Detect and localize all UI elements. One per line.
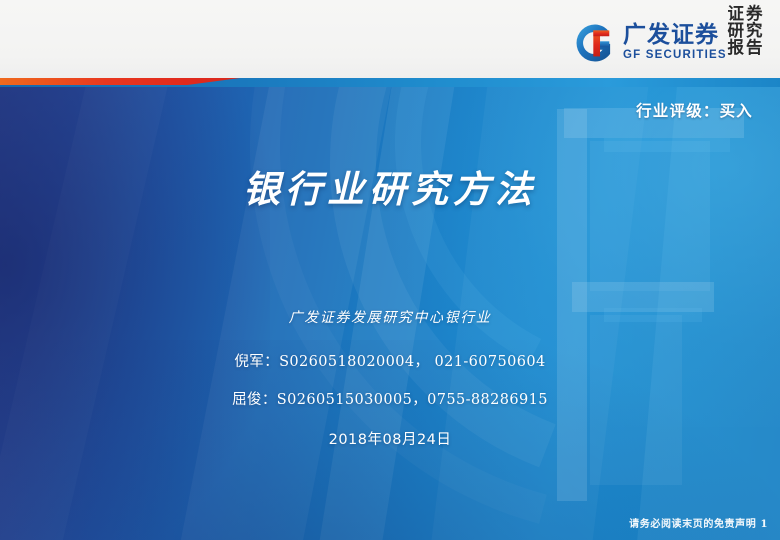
disclaimer-text: 请务必阅读末页的免责声明 xyxy=(629,519,756,530)
page-number: 1 xyxy=(760,519,768,530)
analyst-line: 倪军：S0260518020004， 021-60750604 xyxy=(0,350,780,371)
report-label-line-3: 报告 xyxy=(726,40,765,57)
analyst-line: 屈俊：S0260515030005，0755-88286915 xyxy=(0,388,780,409)
organization-name: 广发证券发展研究中心银行业 xyxy=(0,307,780,327)
cover-panel: 行业评级：买入 银行业研究方法 广发证券发展研究中心银行业 倪军：S026051… xyxy=(0,87,780,540)
slide-header: 广发证券 GF SECURITIES 证券 研究 报告 xyxy=(0,0,780,78)
industry-rating: 行业评级：买入 xyxy=(636,99,753,121)
gf-securities-logo-icon xyxy=(574,22,616,64)
report-cover-slide: 广发证券 GF SECURITIES 证券 研究 报告 xyxy=(0,0,780,540)
brand-name-en: GF SECURITIES xyxy=(623,50,727,62)
brand-wordmark: 广发证券 GF SECURITIES xyxy=(623,24,727,62)
report-type-label: 证券 研究 报告 xyxy=(722,6,768,56)
page-title: 银行业研究方法 xyxy=(0,159,780,213)
publication-date: 2018年08月24日 xyxy=(0,428,780,449)
brand-name-cn: 广发证券 xyxy=(623,24,727,47)
disclaimer-footer: 请务必阅读末页的免责声明 1 xyxy=(629,515,768,530)
brand-lockup: 广发证券 GF SECURITIES xyxy=(574,22,727,64)
